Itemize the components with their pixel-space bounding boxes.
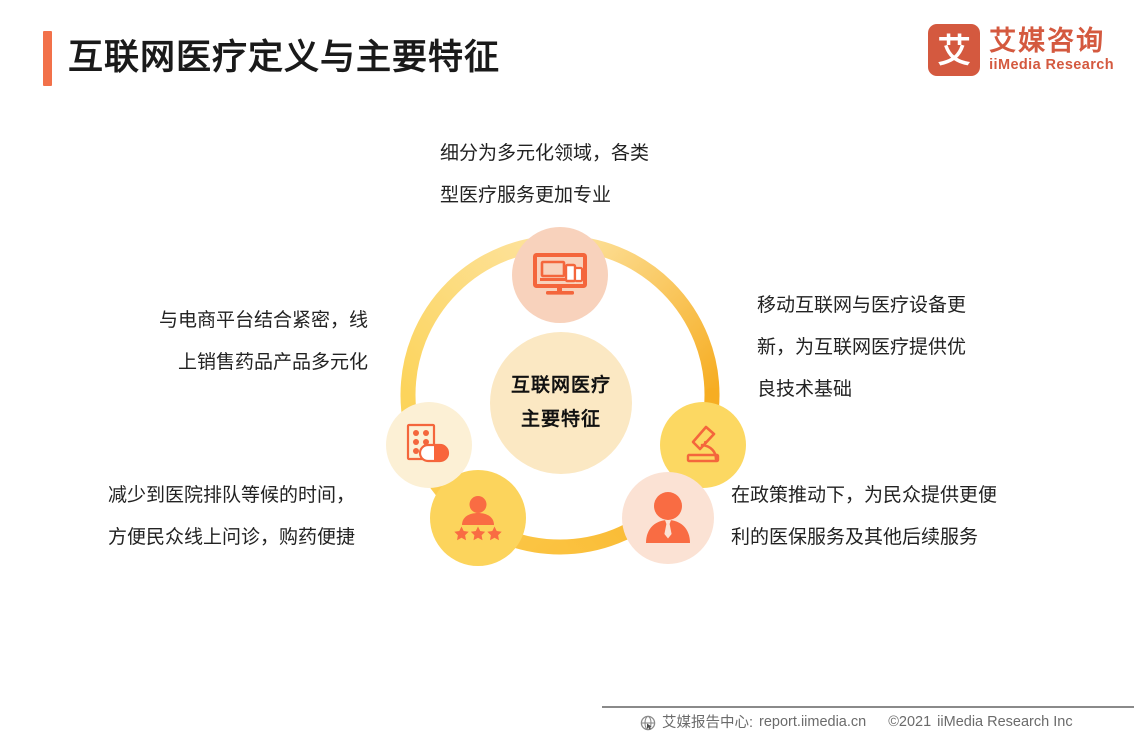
callout-line: 方便民众线上问诊，购药便捷 (108, 517, 355, 559)
callout-segmentation: 细分为多元化领域，各类 型医疗服务更加专业 (440, 133, 649, 217)
callout-line: 细分为多元化领域，各类 (440, 133, 649, 175)
page-title: 互联网医疗定义与主要特征 (68, 30, 500, 86)
callout-ecommerce: 与电商平台结合紧密，线 上销售药品产品多元化 (114, 300, 368, 384)
callout-line: 在政策推动下，为民众提供更便 (731, 475, 997, 517)
callout-policy: 在政策推动下，为民众提供更便 利的医保服务及其他后续服务 (731, 475, 997, 559)
footer-company: iiMedia Research Inc (937, 714, 1072, 730)
center-title-line1: 互联网医疗 (511, 375, 611, 397)
logo-text: 艾媒咨询 iiMedia Research (989, 26, 1114, 74)
monitor-devices-icon (533, 253, 587, 297)
user-rating-stars-icon (452, 495, 504, 541)
center-title-line2: 主要特征 (521, 409, 601, 431)
brand-logo: 艾 艾媒咨询 iiMedia Research (928, 24, 1114, 76)
footer-copyright: ©2021 (888, 714, 931, 730)
callout-convenience: 减少到医院排队等候的时间， 方便民众线上问诊，购药便捷 (108, 475, 355, 559)
footer-url[interactable]: report.iimedia.cn (759, 714, 866, 730)
official-person-icon (642, 491, 694, 545)
callout-line: 上销售药品产品多元化 (114, 342, 368, 384)
globe-icon (640, 715, 656, 731)
node-segmentation[interactable] (512, 227, 608, 323)
footer-divider (602, 706, 1134, 708)
callout-line: 型医疗服务更加专业 (440, 175, 649, 217)
footer-source-label: 艾媒报告中心: (662, 711, 753, 732)
slide-root: 互联网医疗定义与主要特征 艾 艾媒咨询 iiMedia Research (0, 0, 1134, 737)
callout-line: 与电商平台结合紧密，线 (114, 300, 368, 342)
node-policy[interactable] (622, 472, 714, 564)
callout-line: 利的医保服务及其他后续服务 (731, 517, 997, 559)
logo-mark-icon: 艾 (928, 24, 980, 76)
logo-name-cn: 艾媒咨询 (989, 26, 1114, 56)
title-accent-bar (43, 31, 52, 86)
pills-blister-icon (404, 422, 454, 468)
slide-footer: 艾媒报告中心: report.iimedia.cn ©2021 iiMedia … (640, 711, 1073, 732)
slide-header: 互联网医疗定义与主要特征 艾 艾媒咨询 iiMedia Research (0, 0, 1134, 110)
callout-line: 减少到医院排队等候的时间， (108, 475, 355, 517)
diagram-stage: 互联网医疗 主要特征 (0, 110, 1134, 670)
callout-line: 移动互联网与医疗设备更 (757, 285, 966, 327)
node-ecommerce[interactable] (386, 402, 472, 488)
callout-line: 新，为互联网医疗提供优 (757, 327, 966, 369)
logo-name-en: iiMedia Research (989, 56, 1114, 74)
callout-technology: 移动互联网与医疗设备更 新，为互联网医疗提供优 良技术基础 (757, 285, 966, 411)
microscope-icon (680, 422, 726, 468)
diagram-center: 互联网医疗 主要特征 (490, 332, 632, 474)
callout-line: 良技术基础 (757, 369, 966, 411)
